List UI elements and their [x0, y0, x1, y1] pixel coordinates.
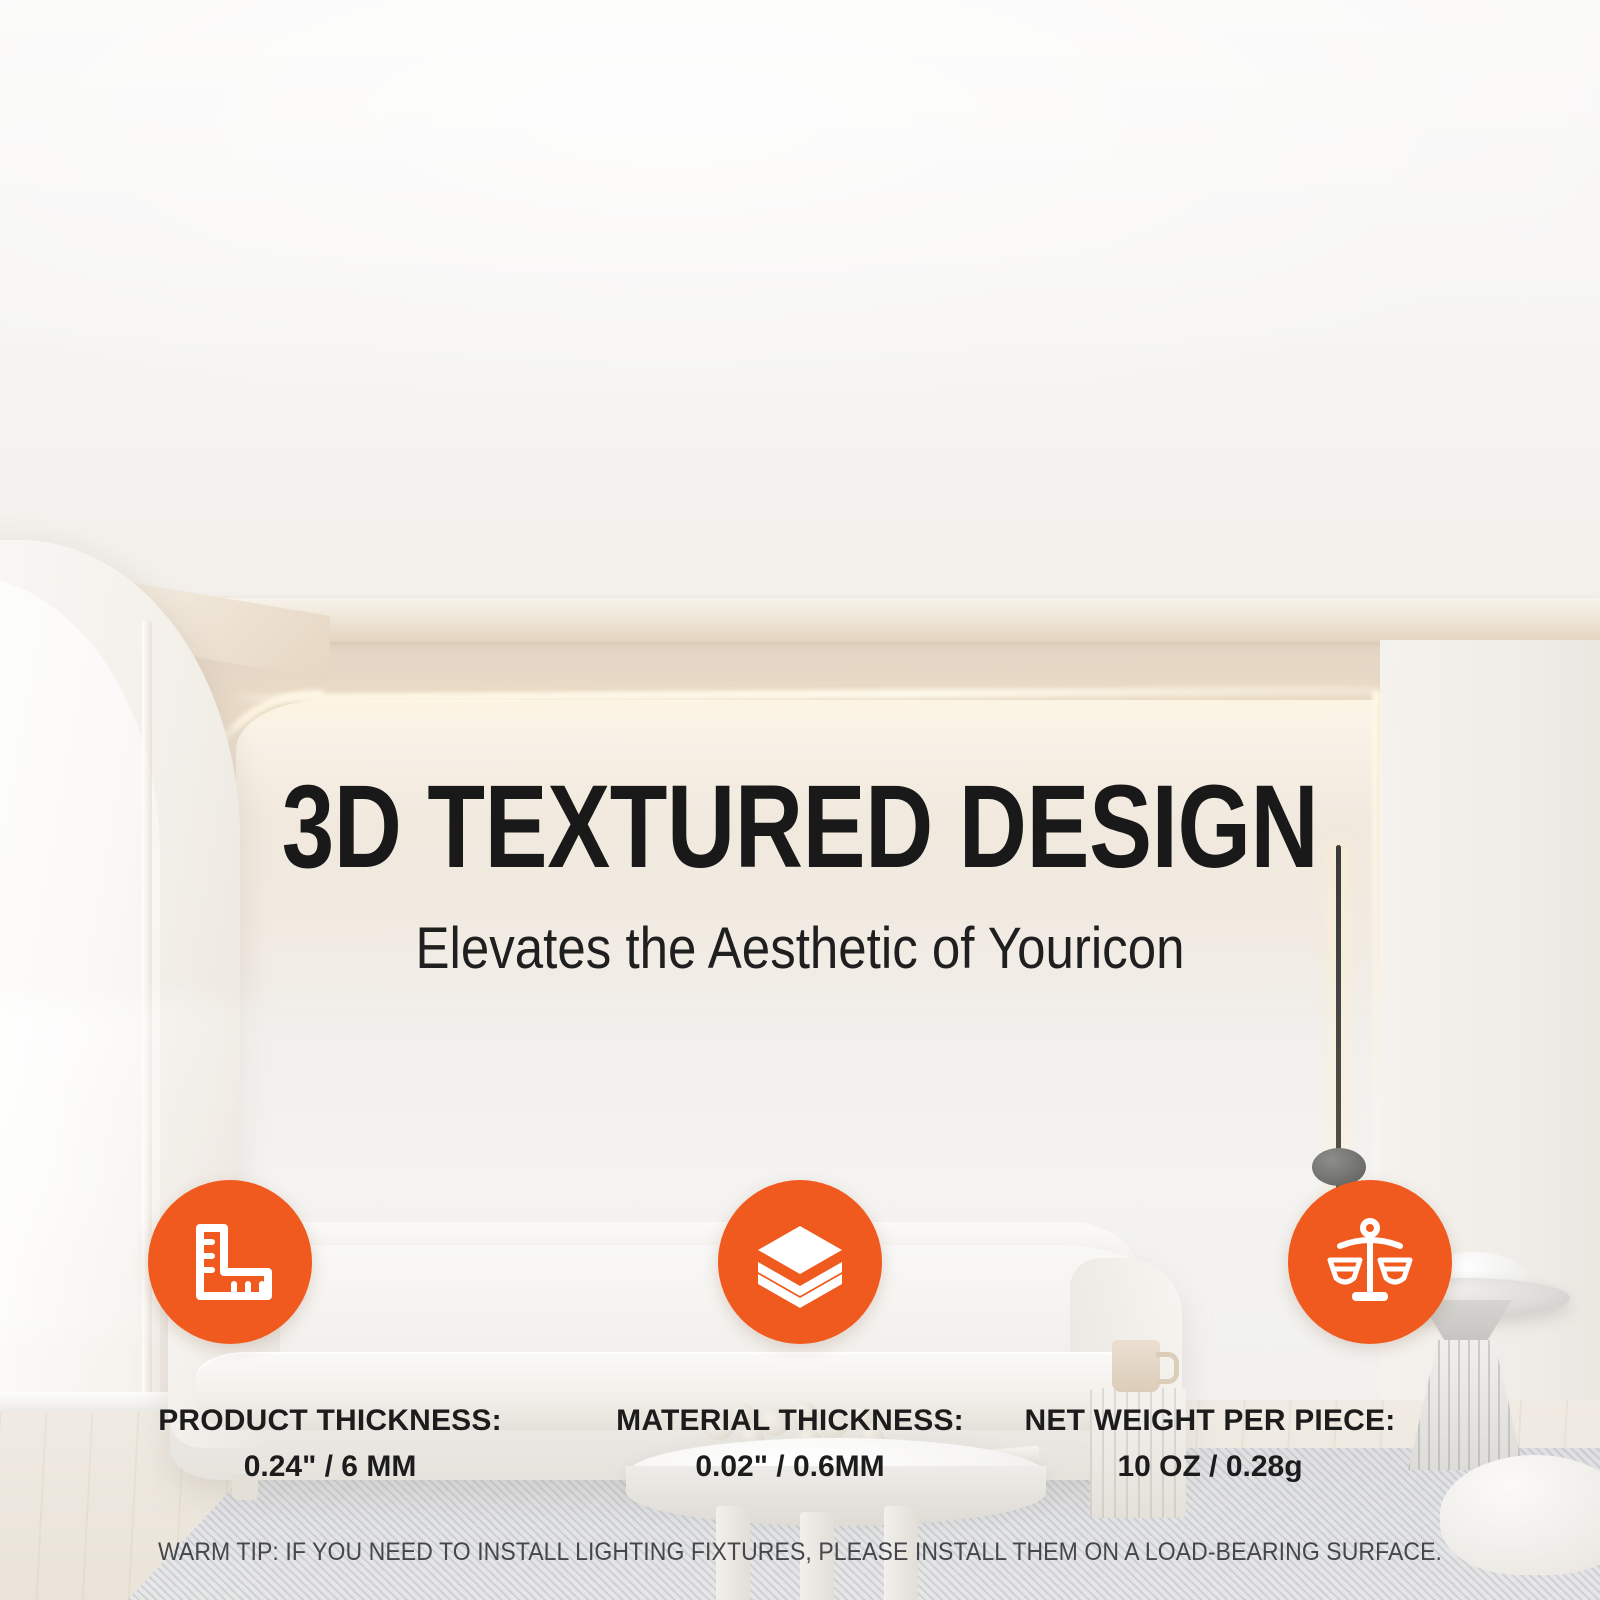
caption-material-thickness: MATERIAL THICKNESS: 0.02" / 0.6MM — [580, 1404, 1000, 1484]
caption-title: NET WEIGHT PER PIECE: — [1000, 1404, 1420, 1438]
material-thickness-badge — [718, 1180, 882, 1344]
feature-net-weight — [1220, 1180, 1520, 1344]
product-thickness-badge — [148, 1180, 312, 1344]
product-marketing-image: 3D TEXTURED DESIGN Elevates the Aestheti… — [0, 0, 1600, 1600]
mug-handle — [1156, 1352, 1179, 1384]
feature-badge-row — [0, 1180, 1600, 1344]
caption-value: 0.02" / 0.6MM — [580, 1450, 1000, 1484]
caption-product-thickness: PRODUCT THICKNESS: 0.24" / 6 MM — [120, 1404, 540, 1484]
ruler-icon — [184, 1216, 276, 1308]
caption-net-weight: NET WEIGHT PER PIECE: 10 OZ / 0.28g — [1000, 1404, 1420, 1484]
feature-material-thickness — [650, 1180, 950, 1344]
page-subtitle: Elevates the Aesthetic of Youricon — [96, 915, 1504, 982]
caption-title: PRODUCT THICKNESS: — [120, 1404, 540, 1438]
caption-title: MATERIAL THICKNESS: — [580, 1404, 1000, 1438]
layers-icon — [754, 1216, 846, 1308]
caption-value: 10 OZ / 0.28g — [1000, 1450, 1420, 1484]
net-weight-badge — [1288, 1180, 1452, 1344]
caption-value: 0.24" / 6 MM — [120, 1450, 540, 1484]
balance-scale-icon — [1324, 1216, 1416, 1308]
warm-tip-text: WARM TIP: IF YOU NEED TO INSTALL LIGHTIN… — [64, 1538, 1536, 1567]
page-title: 3D TEXTURED DESIGN — [160, 768, 1440, 886]
ceramic-mug — [1112, 1340, 1160, 1392]
feature-product-thickness — [80, 1180, 380, 1344]
